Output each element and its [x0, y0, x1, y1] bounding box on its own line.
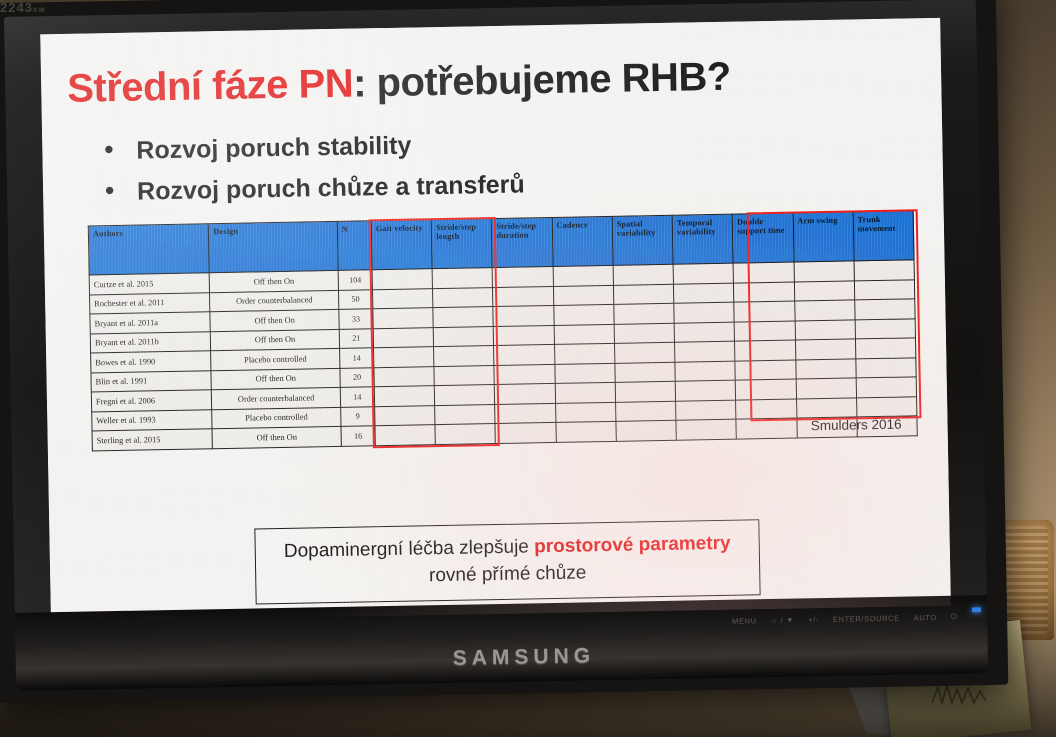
cell-outcome — [553, 265, 614, 286]
th-stride-step-length: Stride/step length — [431, 219, 492, 269]
cell-design: Off then On — [210, 270, 339, 292]
osd-key-power[interactable]: ⏻ — [951, 612, 958, 622]
cell-outcome — [495, 403, 556, 424]
cell-n: 104 — [338, 270, 372, 290]
cell-outcome — [736, 379, 797, 400]
cell-outcome — [493, 305, 554, 326]
photo-scene: TnD id ENERGY 8000:1 Střední fáze PN: po… — [0, 0, 1056, 737]
cell-outcome — [796, 397, 857, 418]
cell-outcome — [374, 366, 435, 387]
slide-title: Střední fáze PN: potřebujeme RHB? — [67, 52, 916, 110]
cell-outcome — [734, 321, 795, 342]
bullet-item: Rozvoj poruch chůze a transferů — [103, 163, 917, 207]
cell-outcome — [733, 262, 794, 283]
cell-n: 21 — [339, 328, 373, 348]
cell-outcome — [434, 365, 495, 386]
osd-key-auto[interactable]: AUTO — [914, 612, 937, 621]
presentation-slide: Střední fáze PN: potřebujeme RHB? Rozvoj… — [40, 18, 951, 622]
source-credit: Smulders 2016 — [811, 417, 902, 434]
osd-key-bright[interactable]: ☼ / ▼ — [771, 615, 795, 624]
cell-outcome — [675, 341, 736, 362]
cell-outcome — [856, 357, 917, 378]
cell-authors: Rochester et al. 2011 — [90, 292, 211, 314]
cell-outcome — [615, 362, 676, 383]
monitor-screen: Střední fáze PN: potřebujeme RHB? Rozvoj… — [40, 18, 951, 622]
cell-authors: Weller et al. 1993 — [92, 409, 213, 431]
cell-outcome — [435, 404, 496, 425]
th-spatial-variability: Spatial variability — [612, 215, 673, 265]
evidence-table-wrapper: Authors Design N Gait velocity Stride/st… — [88, 210, 918, 451]
cell-outcome — [374, 347, 435, 368]
cell-outcome — [674, 302, 735, 323]
evidence-table: Authors Design N Gait velocity Stride/st… — [88, 210, 918, 451]
conclusion-callout: Dopaminergní léčba zlepšuje prostorové p… — [254, 519, 760, 604]
cell-authors: Bowes et al. 1990 — [91, 351, 212, 373]
cell-outcome — [613, 264, 674, 285]
th-temporal-variability: Temporal variability — [672, 214, 733, 264]
cell-outcome — [374, 386, 435, 407]
cell-outcome — [555, 382, 616, 403]
th-cadence: Cadence — [552, 216, 613, 266]
cell-outcome — [856, 396, 917, 417]
cell-outcome — [675, 380, 736, 401]
cell-design: Off then On — [211, 329, 340, 351]
cell-outcome — [432, 268, 493, 289]
cell-outcome — [736, 399, 797, 420]
th-design: Design — [209, 221, 338, 272]
cell-design: Order counterbalanced — [212, 387, 341, 409]
cell-authors: Sterling et al. 2015 — [92, 429, 213, 451]
conclusion-highlight: prostorové parametry — [534, 533, 731, 558]
overlay-clock-value: 2243 — [0, 0, 33, 15]
cell-n: 9 — [341, 406, 375, 426]
cell-outcome — [675, 361, 736, 382]
osd-key-menu[interactable]: MENU — [732, 616, 757, 625]
th-trunk-movement: Trunk movement — [853, 211, 914, 261]
th-double-support-time: Double support time — [732, 213, 793, 263]
cell-outcome — [494, 325, 555, 346]
cell-outcome — [434, 385, 495, 406]
cell-authors: Bryant et al. 2011b — [90, 331, 211, 353]
cell-outcome — [855, 338, 916, 359]
conclusion-part1: Dopaminergní léčba zlepšuje — [284, 536, 535, 562]
cell-outcome — [372, 288, 433, 309]
cell-outcome — [794, 261, 855, 282]
cell-outcome — [676, 419, 737, 440]
cell-outcome — [615, 381, 676, 402]
power-led-icon — [972, 607, 981, 612]
slide-title-rest: : potřebujeme RHB? — [353, 55, 731, 106]
cell-outcome — [495, 422, 556, 443]
cell-outcome — [553, 304, 614, 325]
cell-outcome — [554, 324, 615, 345]
cell-outcome — [735, 340, 796, 361]
cell-outcome — [854, 260, 915, 281]
th-gait-velocity: Gait velocity — [371, 220, 432, 270]
cell-outcome — [433, 326, 494, 347]
cell-outcome — [614, 342, 675, 363]
cell-n: 20 — [340, 367, 374, 387]
cell-outcome — [673, 263, 734, 284]
monitor-chin — [15, 595, 988, 691]
cell-outcome — [794, 300, 855, 321]
th-arm-swing: Arm swing — [793, 212, 854, 262]
cell-outcome — [734, 301, 795, 322]
cell-design: Off then On — [212, 426, 341, 448]
cell-n: 50 — [338, 289, 372, 309]
slide-title-red: Střední fáze PN — [67, 62, 354, 111]
cell-design: Order counterbalanced — [210, 290, 339, 312]
cell-outcome — [676, 400, 737, 421]
samsung-logo: SAMSUNG — [453, 644, 596, 671]
overlay-clock: 2243sw — [0, 0, 110, 22]
th-n: N — [337, 221, 372, 271]
samsung-monitor: TnD id ENERGY 8000:1 Střední fáze PN: po… — [0, 0, 1008, 703]
cell-outcome — [855, 318, 916, 339]
cell-design: Off then On — [211, 368, 340, 390]
conclusion-part2: rovné přímé chůze — [429, 562, 587, 586]
cell-design: Off then On — [210, 309, 339, 331]
cell-n: 33 — [339, 309, 373, 329]
bullet-item: Rozvoj poruch stability — [102, 122, 916, 166]
cell-outcome — [795, 358, 856, 379]
cell-outcome — [435, 424, 496, 445]
cell-outcome — [555, 363, 616, 384]
cell-outcome — [493, 286, 554, 307]
cell-outcome — [372, 269, 433, 290]
cell-outcome — [615, 401, 676, 422]
cell-authors: Bryant et al. 2011a — [90, 312, 211, 334]
cell-outcome — [614, 323, 675, 344]
cell-authors: Fregni et al. 2006 — [91, 390, 212, 412]
cell-n: 14 — [339, 348, 373, 368]
cell-outcome — [614, 303, 675, 324]
cell-outcome — [674, 322, 735, 343]
th-authors: Authors — [88, 224, 209, 275]
cell-outcome — [616, 420, 677, 441]
cell-outcome — [795, 339, 856, 360]
cell-outcome — [554, 343, 615, 364]
th-stride-step-duration: Stride/step duration — [492, 217, 553, 267]
cell-outcome — [736, 418, 797, 439]
table-body: Curtze et al. 2015Off then On104Rocheste… — [89, 260, 917, 451]
cell-outcome — [494, 344, 555, 365]
cell-outcome — [734, 282, 795, 303]
cell-authors: Blin et al. 1991 — [91, 370, 212, 392]
cell-outcome — [373, 327, 434, 348]
cell-design: Placebo controlled — [212, 407, 341, 429]
conclusion-text: Dopaminergní léčba zlepšuje prostorové p… — [272, 531, 744, 594]
cell-outcome — [494, 364, 555, 385]
cell-n: 16 — [341, 426, 375, 446]
cell-authors: Curtze et al. 2015 — [89, 273, 210, 295]
cell-outcome — [796, 378, 857, 399]
overlay-clock-unit: sw — [33, 5, 46, 14]
cell-outcome — [375, 425, 436, 446]
cell-outcome — [556, 421, 617, 442]
cell-outcome — [493, 266, 554, 287]
cell-outcome — [434, 346, 495, 367]
cell-outcome — [375, 405, 436, 426]
cell-n: 14 — [340, 387, 374, 407]
slide-bullet-list: Rozvoj poruch stability Rozvoj poruch ch… — [102, 122, 917, 207]
osd-key-source[interactable]: ENTER/SOURCE — [833, 613, 900, 623]
cell-outcome — [735, 360, 796, 381]
cell-outcome — [495, 383, 556, 404]
osd-key-volume[interactable]: +/- — [808, 615, 819, 624]
cell-outcome — [555, 402, 616, 423]
cell-design: Placebo controlled — [211, 348, 340, 370]
cell-outcome — [855, 299, 916, 320]
cell-outcome — [433, 287, 494, 308]
cell-outcome — [794, 280, 855, 301]
cell-outcome — [373, 308, 434, 329]
cell-outcome — [854, 279, 915, 300]
cell-outcome — [613, 284, 674, 305]
cell-outcome — [856, 377, 917, 398]
cell-outcome — [433, 307, 494, 328]
cell-outcome — [674, 283, 735, 304]
cell-outcome — [553, 285, 614, 306]
cell-outcome — [795, 319, 856, 340]
